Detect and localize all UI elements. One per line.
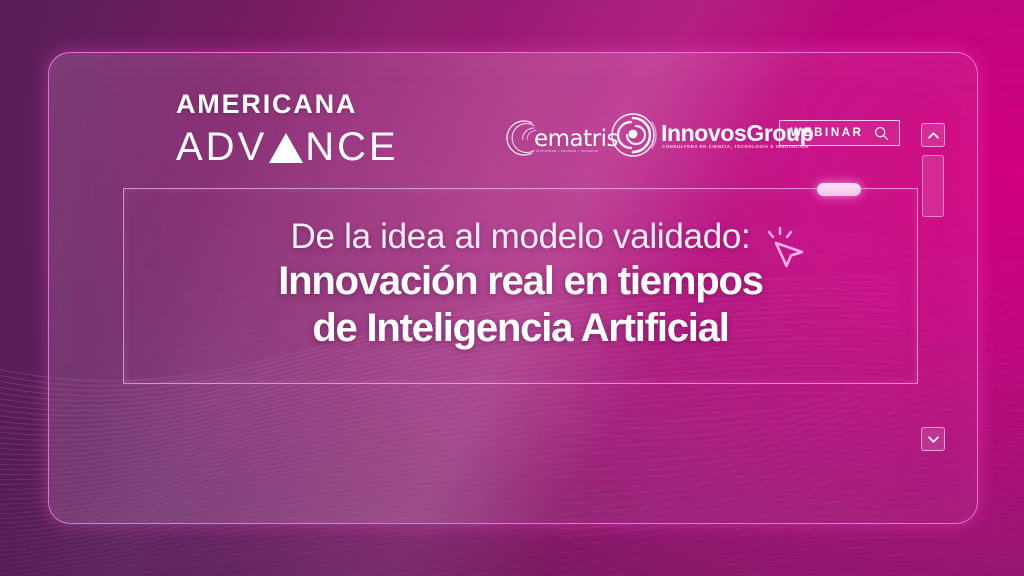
brand-line-advance: ADV NCE [176,127,411,167]
scroll-up-button[interactable] [921,123,945,147]
brand-logo-americana-advance: AMERICANA ADV NCE [176,91,411,167]
slide-canvas: AMERICANA ADV NCE ematris [0,0,1024,576]
main-glass-panel: AMERICANA ADV NCE ematris [48,52,978,524]
chevron-up-icon [927,131,940,140]
partner-logo-ematris: ematris diversidad • equidad • inclusión [498,113,603,161]
title-subtitle-line: De la idea al modelo validado: [291,216,751,257]
title-main-line-2: de Inteligencia Artificial [312,305,728,352]
innovos-radar-icon [609,111,657,159]
brand-advance-suffix: NCE [305,127,398,167]
ematris-tagline: diversidad • equidad • inclusión [536,149,598,153]
title-main-line-1: Innovación real en tiempos [278,258,762,305]
header-row: AMERICANA ADV NCE ematris [49,53,977,173]
webinar-badge-label: WEBINAR [790,127,863,139]
scroll-down-button[interactable] [921,427,945,451]
title-block: De la idea al modelo validado: Innovació… [124,189,917,383]
webinar-badge[interactable]: WEBINAR [779,120,900,146]
chevron-down-icon [927,435,940,444]
title-frame: De la idea al modelo validado: Innovació… [123,188,918,384]
search-icon [874,126,889,141]
brand-line-americana: AMERICANA [176,91,411,118]
vertical-scrollbar[interactable] [922,155,944,217]
brand-advance-prefix: ADV [176,127,267,167]
triangle-a-icon [269,133,303,163]
